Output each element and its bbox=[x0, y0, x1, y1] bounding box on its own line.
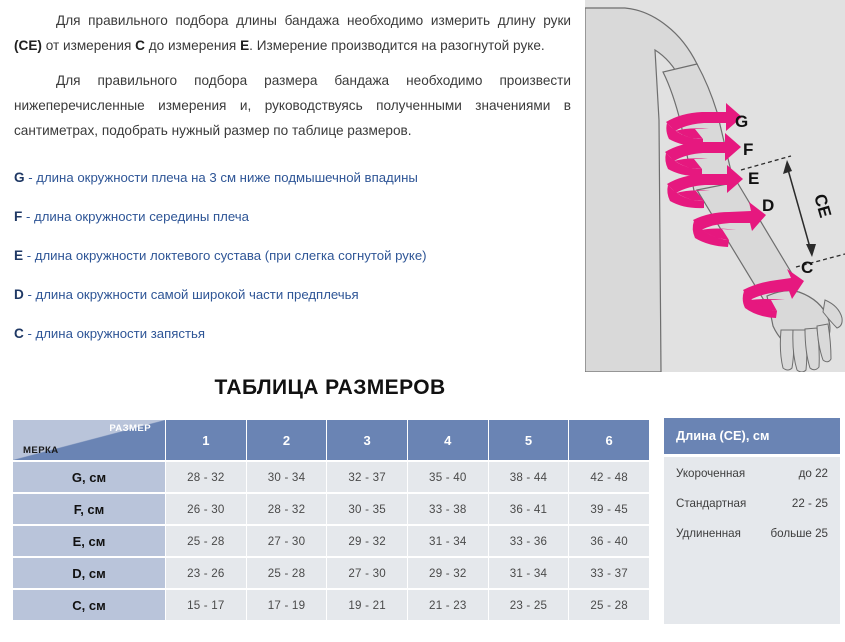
intro-p1-part1: Для правильного подбора длины бандажа не… bbox=[56, 13, 571, 28]
ce-table-body: Укороченная до 22 Стандартная 22 - 25 Уд… bbox=[664, 457, 840, 624]
ce-value-long: больше 25 bbox=[770, 527, 828, 540]
row-label-c: C, см bbox=[13, 590, 165, 620]
ce-table-header: Длина (СЕ), см bbox=[664, 418, 840, 454]
cell-g-5: 38 - 44 bbox=[489, 462, 569, 492]
ce-row-long: Удлиненная больше 25 bbox=[676, 527, 828, 540]
cell-c-4: 21 - 23 bbox=[408, 590, 488, 620]
label-f: F bbox=[743, 140, 753, 159]
label-c: C bbox=[801, 258, 813, 277]
definition-text-c: - длина окружности запястья bbox=[24, 326, 205, 341]
definition-item-e: E - длина окружности локтевого сустава (… bbox=[14, 247, 571, 265]
cell-g-1: 28 - 32 bbox=[166, 462, 246, 492]
size-column-header-1: 1 bbox=[166, 420, 246, 460]
size-column-header-3: 3 bbox=[327, 420, 407, 460]
finger-1 bbox=[780, 330, 793, 370]
size-table-container: РАЗМЕР МЕРКА 1 2 3 4 5 6 G, см 28 - 32 3… bbox=[12, 418, 650, 622]
definition-letter-d: D bbox=[14, 287, 24, 302]
cell-g-6: 42 - 48 bbox=[569, 462, 649, 492]
table-row: G, см 28 - 32 30 - 34 32 - 37 35 - 40 38… bbox=[13, 462, 649, 492]
cell-e-6: 36 - 40 bbox=[569, 526, 649, 556]
size-column-header-5: 5 bbox=[489, 420, 569, 460]
cell-d-3: 27 - 30 bbox=[327, 558, 407, 588]
cell-f-6: 39 - 45 bbox=[569, 494, 649, 524]
cell-d-1: 23 - 26 bbox=[166, 558, 246, 588]
size-column-header-6: 6 bbox=[569, 420, 649, 460]
definition-letter-g: G bbox=[14, 170, 25, 185]
cell-f-5: 36 - 41 bbox=[489, 494, 569, 524]
row-label-d: D, см bbox=[13, 558, 165, 588]
corner-size-label: РАЗМЕР bbox=[109, 423, 151, 434]
cell-e-2: 27 - 30 bbox=[247, 526, 327, 556]
cell-e-5: 33 - 36 bbox=[489, 526, 569, 556]
cell-g-2: 30 - 34 bbox=[247, 462, 327, 492]
arm-diagram-svg: G F E D C CE bbox=[585, 0, 845, 372]
table-row: C, см 15 - 17 17 - 19 19 - 21 21 - 23 23… bbox=[13, 590, 649, 620]
table-row: E, см 25 - 28 27 - 30 29 - 32 31 - 34 33… bbox=[13, 526, 649, 556]
definition-text-d: - длина окружности самой широкой части п… bbox=[24, 287, 359, 302]
ce-row-standard: Стандартная 22 - 25 bbox=[676, 497, 828, 510]
ce-length-table-container: Длина (СЕ), см Укороченная до 22 Стандар… bbox=[664, 418, 840, 624]
cell-f-4: 33 - 38 bbox=[408, 494, 488, 524]
table-corner-cell: РАЗМЕР МЕРКА bbox=[13, 420, 165, 460]
definition-letter-c: C bbox=[14, 326, 24, 341]
cell-d-6: 33 - 37 bbox=[569, 558, 649, 588]
ce-name-long: Удлиненная bbox=[676, 527, 741, 540]
cell-e-3: 29 - 32 bbox=[327, 526, 407, 556]
size-table-header-row: РАЗМЕР МЕРКА 1 2 3 4 5 6 bbox=[13, 420, 649, 460]
row-label-g: G, см bbox=[13, 462, 165, 492]
intro-paragraph-2: Для правильного подбора размера бандажа … bbox=[14, 68, 571, 143]
size-column-header-2: 2 bbox=[247, 420, 327, 460]
intro-paragraph-1: Для правильного подбора длины бандажа не… bbox=[14, 8, 571, 58]
definition-letter-e: E bbox=[14, 248, 23, 263]
intro-p1-part2: от измерения bbox=[42, 38, 135, 53]
label-d: D bbox=[762, 196, 774, 215]
cell-f-1: 26 - 30 bbox=[166, 494, 246, 524]
cell-c-6: 25 - 28 bbox=[569, 590, 649, 620]
cell-d-4: 29 - 32 bbox=[408, 558, 488, 588]
ce-name-short: Укороченная bbox=[676, 467, 745, 480]
intro-p1-part3: до измерения bbox=[145, 38, 240, 53]
cell-f-3: 30 - 35 bbox=[327, 494, 407, 524]
cell-d-5: 31 - 34 bbox=[489, 558, 569, 588]
corner-merka-label: МЕРКА bbox=[23, 445, 59, 456]
cell-c-2: 17 - 19 bbox=[247, 590, 327, 620]
cell-c-3: 19 - 21 bbox=[327, 590, 407, 620]
arm-measurement-illustration: G F E D C CE bbox=[585, 0, 845, 372]
definition-text-g: - длина окружности плеча на 3 см ниже по… bbox=[25, 170, 418, 185]
definition-item-d: D - длина окружности самой широкой части… bbox=[14, 286, 571, 304]
row-label-e: E, см bbox=[13, 526, 165, 556]
definition-text-e: - длина окружности локтевого сустава (пр… bbox=[23, 248, 426, 263]
intro-p1-bold-e: Е bbox=[240, 38, 249, 53]
ce-row-short: Укороченная до 22 bbox=[676, 467, 828, 480]
cell-d-2: 25 - 28 bbox=[247, 558, 327, 588]
cell-c-5: 23 - 25 bbox=[489, 590, 569, 620]
definition-text-f: - длина окружности середины плеча bbox=[22, 209, 249, 224]
cell-c-1: 15 - 17 bbox=[166, 590, 246, 620]
size-table: РАЗМЕР МЕРКА 1 2 3 4 5 6 G, см 28 - 32 3… bbox=[12, 418, 650, 622]
table-row: F, см 26 - 30 28 - 32 30 - 35 33 - 38 36… bbox=[13, 494, 649, 524]
intro-p1-bold-c: С bbox=[135, 38, 145, 53]
definitions-list: G - длина окружности плеча на 3 см ниже … bbox=[14, 169, 571, 343]
cell-f-2: 28 - 32 bbox=[247, 494, 327, 524]
cell-e-1: 25 - 28 bbox=[166, 526, 246, 556]
cell-g-4: 35 - 40 bbox=[408, 462, 488, 492]
definition-item-c: C - длина окружности запястья bbox=[14, 325, 571, 343]
label-g: G bbox=[735, 112, 748, 131]
top-section: Для правильного подбора длины бандажа не… bbox=[0, 0, 845, 372]
intro-p1-bold-ce: (СЕ) bbox=[14, 38, 42, 53]
label-e: E bbox=[748, 169, 759, 188]
cell-g-3: 32 - 37 bbox=[327, 462, 407, 492]
row-label-f: F, см bbox=[13, 494, 165, 524]
size-table-title: ТАБЛИЦА РАЗМЕРОВ bbox=[0, 376, 660, 400]
ce-value-short: до 22 bbox=[799, 467, 828, 480]
text-column: Для правильного подбора длины бандажа не… bbox=[0, 0, 583, 372]
definition-item-f: F - длина окружности середины плеча bbox=[14, 208, 571, 226]
ce-value-standard: 22 - 25 bbox=[792, 497, 828, 510]
table-row: D, см 23 - 26 25 - 28 27 - 30 29 - 32 31… bbox=[13, 558, 649, 588]
cell-e-4: 31 - 34 bbox=[408, 526, 488, 556]
ce-name-standard: Стандартная bbox=[676, 497, 746, 510]
intro-p1-part4: . Измерение производится на разогнутой р… bbox=[249, 38, 545, 53]
size-column-header-4: 4 bbox=[408, 420, 488, 460]
definition-item-g: G - длина окружности плеча на 3 см ниже … bbox=[14, 169, 571, 187]
